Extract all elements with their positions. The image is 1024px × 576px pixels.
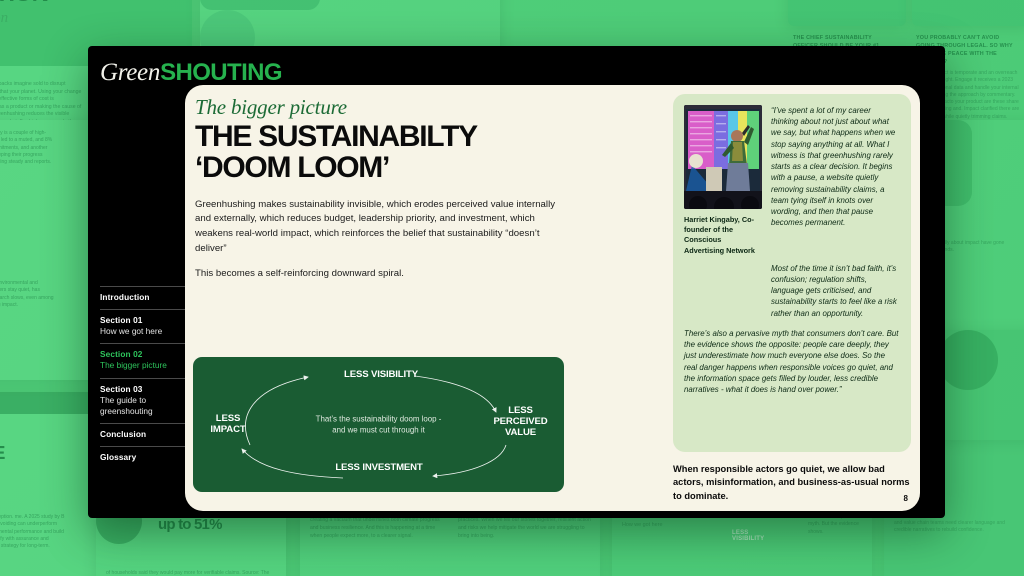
sidebar-item-section-02[interactable]: Section 02 The bigger picture (100, 343, 186, 377)
sidebar-item-label: Section 01 (100, 315, 186, 326)
body-paragraph-1: Greenhushing makes sustainability invisi… (195, 198, 565, 257)
sidebar-item-introduction[interactable]: Introduction (100, 286, 186, 309)
quote-panel: Harriet Kingaby, Co-founder of the Consc… (673, 94, 911, 452)
quote-top-row: Harriet Kingaby, Co-founder of the Consc… (684, 105, 900, 256)
brand-logo: Green SHOUTING (100, 59, 282, 85)
sidebar-item-label: Section 03 (100, 384, 186, 395)
cycle-node-right: LESS PERCEIVED VALUE (483, 405, 558, 438)
page-title: THE SUSTAINABILTY ‘DOOM LOOM’ (195, 122, 575, 184)
slide-left-column: The bigger picture THE SUSTAINABILTY ‘DO… (195, 95, 575, 282)
quote-paragraph-1: “I’ve spent a lot of my career thinking … (771, 105, 900, 256)
sidebar-item-sublabel: How we got here (100, 326, 186, 337)
stage-photo-illustration (684, 105, 762, 209)
sidebar-item-section-03[interactable]: Section 03 The guide to greenshouting (100, 378, 186, 423)
quote-paragraph-3: There’s also a pervasive myth that consu… (684, 328, 900, 395)
quote-attribution: Harriet Kingaby, Co-founder of the Consc… (684, 215, 762, 256)
presentation-window: Green SHOUTING Introduction Section 01 H… (88, 46, 945, 518)
slide-kicker: When responsible actors go quiet, we all… (673, 463, 913, 503)
sidebar-item-label: Glossary (100, 452, 186, 463)
brand-word-bold: SHOUTING (160, 59, 282, 87)
doom-loop-diagram: LESS VISIBILITY LESS PERCEIVED VALUE LES… (193, 357, 564, 492)
quote-paragraph-2: Most of the time it isn’t bad faith, it’… (771, 263, 900, 319)
slide-card: The bigger picture THE SUSTAINABILTY ‘DO… (185, 85, 920, 511)
sidebar-nav: Introduction Section 01 How we got here … (100, 286, 186, 469)
cycle-node-left: LESS IMPACT (199, 413, 257, 435)
sidebar-item-sublabel: The guide to greenshouting (100, 395, 186, 417)
sidebar-item-conclusion[interactable]: Conclusion (100, 423, 186, 446)
brand-word-serif: Green (100, 59, 160, 87)
page-number: 8 (904, 494, 908, 503)
sidebar-item-label: Introduction (100, 292, 186, 303)
sidebar-item-section-01[interactable]: Section 01 How we got here (100, 309, 186, 343)
sidebar-item-label: Section 02 (100, 349, 186, 360)
sidebar-item-glossary[interactable]: Glossary (100, 446, 186, 469)
sidebar-item-label: Conclusion (100, 429, 186, 440)
cycle-center-text: That’s the sustainability doom loop - an… (315, 413, 443, 436)
cycle-node-top: LESS VISIBILITY (341, 369, 421, 380)
section-eyebrow: The bigger picture (195, 95, 575, 120)
sidebar-item-sublabel: The bigger picture (100, 360, 186, 371)
cycle-node-bottom: LESS INVESTMENT (333, 462, 425, 473)
body-paragraph-2: This becomes a self-reinforcing downward… (195, 267, 575, 282)
speaker-photo (684, 105, 762, 209)
